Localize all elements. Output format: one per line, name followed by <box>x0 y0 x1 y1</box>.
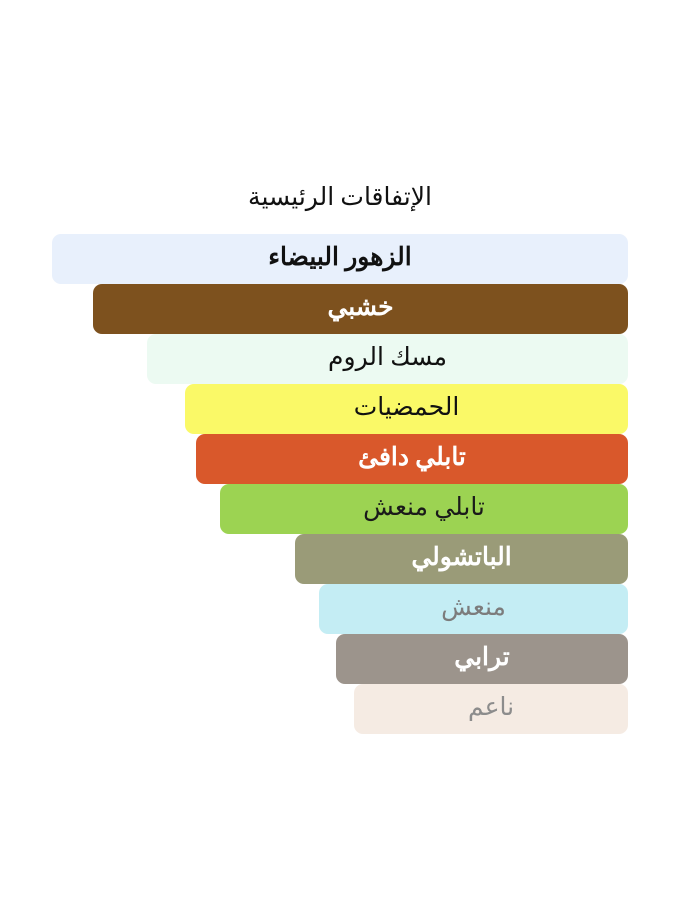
funnel-row: الزهور البيضاء <box>0 234 680 284</box>
funnel-bar[interactable]: ترابي <box>336 634 628 684</box>
chart-title: الإتفاقات الرئيسية <box>0 178 680 218</box>
funnel-bar-label: مسك الروم <box>328 343 447 376</box>
funnel-row: ناعم <box>0 684 680 734</box>
funnel-bar-label: الباتشولي <box>411 543 511 576</box>
funnel-bar[interactable]: منعش <box>319 584 628 634</box>
funnel-row: الحمضيات <box>0 384 680 434</box>
funnel-row: تابلي دافئ <box>0 434 680 484</box>
funnel-bar[interactable]: الزهور البيضاء <box>52 234 628 284</box>
funnel-bar[interactable]: مسك الروم <box>147 334 628 384</box>
funnel-bar-label: خشبي <box>327 293 393 326</box>
funnel-row: ترابي <box>0 634 680 684</box>
funnel-bar[interactable]: تابلي دافئ <box>196 434 628 484</box>
funnel-bar-label: تابلي دافئ <box>358 443 466 476</box>
funnel-bar[interactable]: الباتشولي <box>295 534 628 584</box>
funnel-bar-label: الحمضيات <box>354 393 460 426</box>
funnel-bar[interactable]: الحمضيات <box>185 384 628 434</box>
funnel-row: تابلي منعش <box>0 484 680 534</box>
funnel-bar-label: ناعم <box>468 693 514 726</box>
funnel-bar[interactable]: خشبي <box>93 284 628 334</box>
funnel-bar[interactable]: ناعم <box>354 684 628 734</box>
funnel-bars-container: الزهور البيضاءخشبيمسك الرومالحمضياتتابلي… <box>0 234 680 734</box>
funnel-row: خشبي <box>0 284 680 334</box>
funnel-row: منعش <box>0 584 680 634</box>
funnel-bar-label: تابلي منعش <box>363 493 485 526</box>
funnel-chart: الإتفاقات الرئيسية الزهور البيضاءخشبيمسك… <box>0 0 680 900</box>
funnel-bar-label: الزهور البيضاء <box>268 243 411 276</box>
funnel-bar-label: منعش <box>441 593 506 626</box>
funnel-row: الباتشولي <box>0 534 680 584</box>
funnel-row: مسك الروم <box>0 334 680 384</box>
funnel-bar-label: ترابي <box>454 643 510 676</box>
funnel-bar[interactable]: تابلي منعش <box>220 484 628 534</box>
